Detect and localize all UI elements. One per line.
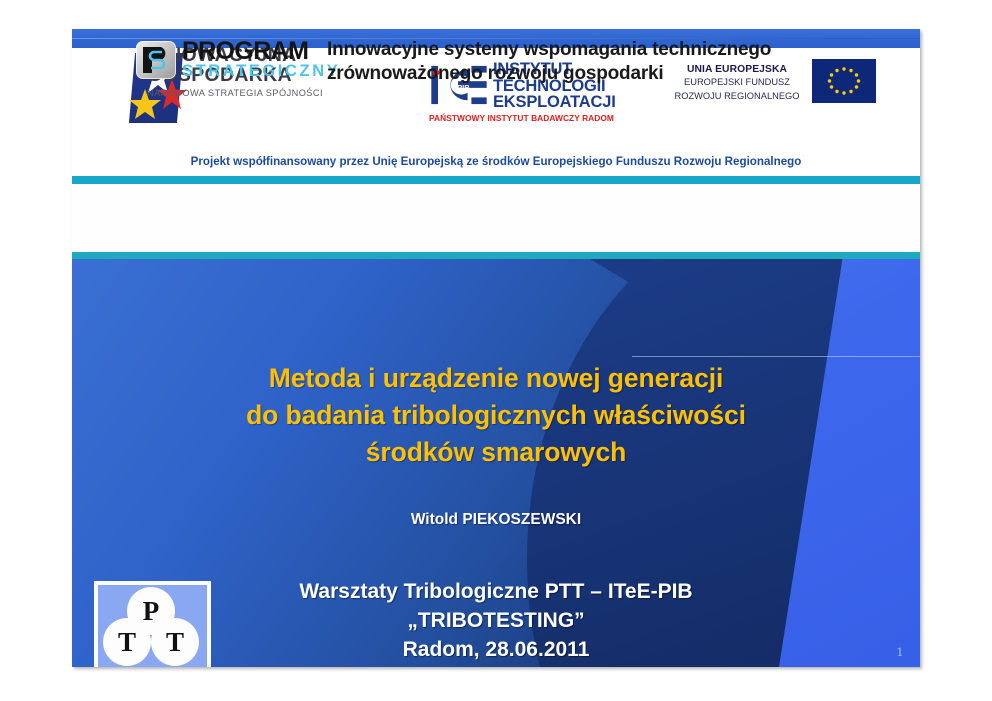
title-line3: środków smarowych — [72, 434, 920, 471]
ptt-logo-inner: P T T — [98, 585, 207, 667]
program-strategiczny-band — [72, 184, 920, 252]
program-strategiczny-wordmark: PROGRAM STRATEGICZNY — [182, 39, 340, 79]
decorative-hairline — [632, 356, 920, 357]
funding-note: Projekt współfinansowany przez Unię Euro… — [72, 155, 920, 168]
ite-line3: EKSPLOATACJI — [493, 94, 616, 111]
program-word: PROGRAM — [182, 39, 340, 63]
eu-line3: ROZWOJU REGIONALNEGO — [672, 91, 802, 103]
author-name: Witold PIEKOSZEWSKI — [72, 511, 920, 529]
ite-subtitle: PAŃSTWOWY INSTYTUT BADAWCZY RADOM — [429, 113, 614, 123]
title-line2: do badania tribologicznych właściwości — [72, 397, 920, 434]
ptt-circle-t-right: T — [151, 618, 199, 666]
program-title: Innowacyjne systemy wspomagania technicz… — [327, 38, 771, 85]
program-strategiczny-icon — [136, 41, 176, 79]
teal-divider-bottom — [72, 252, 920, 259]
title-line1: Metoda i urządzenie nowej generacji — [72, 360, 920, 397]
presentation-slide: INNOWACYJNA GOSPODARKA NARODOWA STRATEGI… — [72, 29, 920, 667]
page-number: 1 — [897, 644, 904, 660]
program-title-line2: zrównoważonego rozwoju gospodarki — [327, 62, 771, 86]
slide-body: Metoda i urządzenie nowej generacji do b… — [72, 259, 920, 667]
page-title: Metoda i urządzenie nowej generacji do b… — [72, 360, 920, 471]
ig-subtitle: NARODOWA STRATEGIA SPÓJNOŚCI — [147, 88, 323, 98]
ptt-logo: P T T — [94, 581, 211, 667]
strategiczny-word: STRATEGICZNY — [182, 63, 340, 79]
program-title-line1: Innowacyjne systemy wspomagania technicz… — [327, 38, 771, 62]
teal-divider-top — [72, 176, 920, 184]
ptt-circle-t-left: T — [103, 618, 151, 666]
eu-flag-icon — [812, 59, 876, 103]
